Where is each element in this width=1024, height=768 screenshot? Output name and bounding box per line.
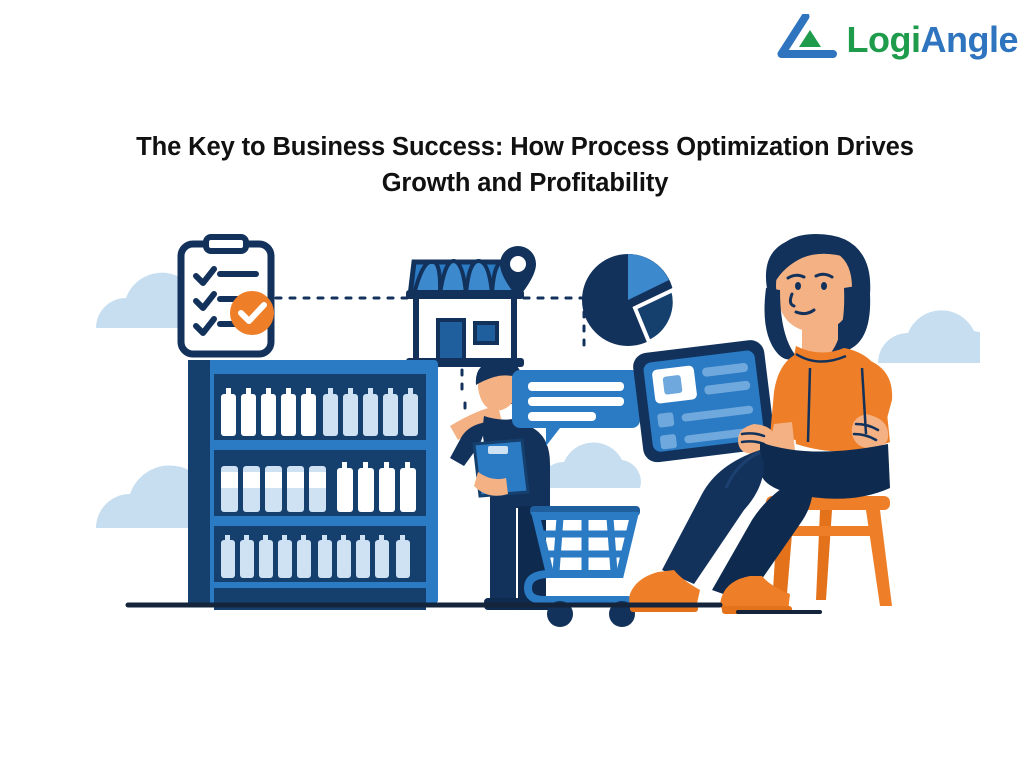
pie-chart bbox=[582, 254, 675, 346]
store-front bbox=[406, 246, 536, 367]
brand-wordmark-angle: Angle bbox=[920, 19, 1018, 60]
checklist-clipboard bbox=[181, 237, 274, 354]
brand-logo[interactable]: LogiAngle bbox=[777, 14, 1019, 65]
product-shelf bbox=[188, 360, 438, 610]
page-title: The Key to Business Success: How Process… bbox=[95, 129, 955, 201]
brand-wordmark: LogiAngle bbox=[847, 22, 1019, 58]
shelf-row-2 bbox=[221, 462, 416, 512]
hero-illustration bbox=[60, 228, 980, 648]
logiangle-angle-triangle-logo bbox=[777, 14, 841, 65]
brand-wordmark-logi: Logi bbox=[847, 19, 921, 60]
completed-check-badge bbox=[230, 291, 274, 335]
